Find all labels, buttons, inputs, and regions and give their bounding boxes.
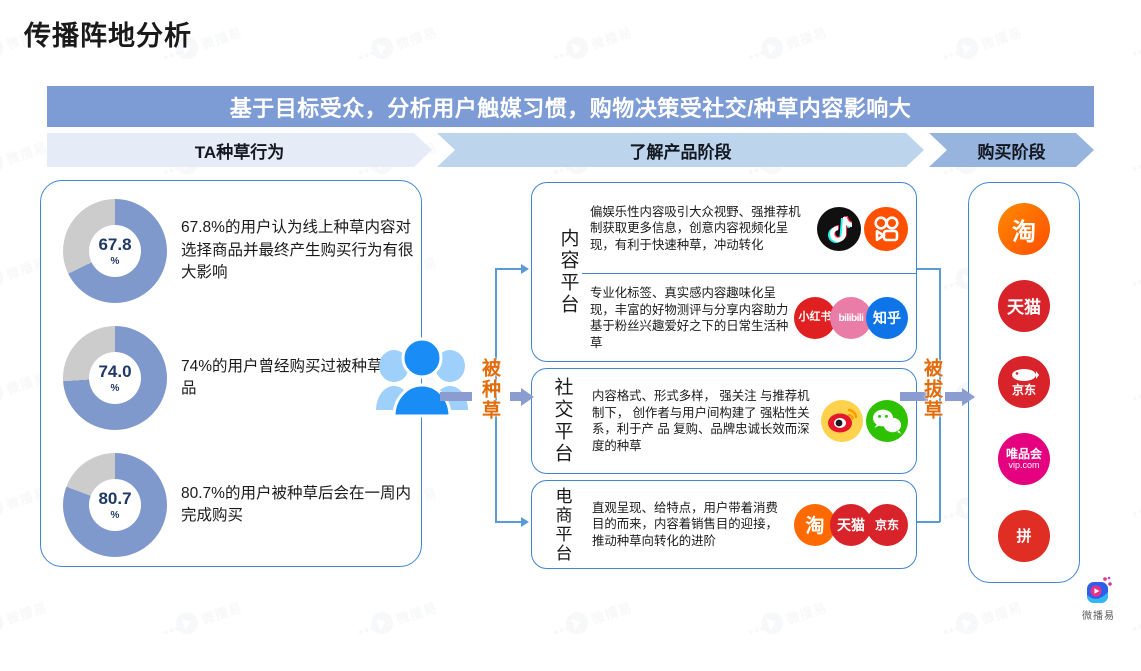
stage-bar: TA种草行为 了解产品阶段 购买阶段 [47,133,1094,167]
social-platform-row: 内容格式、形式多样， 强关注 与推荐机制下， 创作者与用户间构建了 强粘性关系，… [584,369,916,473]
social-platform-box[interactable]: 社交平台 内容格式、形式多样， 强关注 与推荐机制下， 创作者与用户间构建了 强… [531,368,917,474]
watermark: 微播易 [953,20,1024,62]
headline-text: 基于目标受众，分析用户触媒习惯，购物决策受社交/种草内容影响大 [230,91,912,123]
vip-logo[interactable]: 唯品会 vip.com [998,433,1050,485]
watermark: 微播易 [368,595,439,637]
platform-column: 内容平台 偏娱乐性内容吸引大众视野、强推荐机制获取更多信息，创意内容视频化呈现，… [531,182,915,567]
watermark: 微播易 [0,595,50,637]
left-flow-label: 被种草 [476,358,503,421]
ta-behavior-card: 67.8 % 67.8%的用户认为线上种草内容对选择商品并最终产生购买行为有很大… [40,180,422,567]
jd-logo-text: 京东 [1012,381,1036,398]
wechat-logo[interactable] [866,400,908,442]
row-description: 专业化标签、真实感内容趣味化呈现，丰富的好物测评与分享内容助力基于粉丝兴趣爱好之… [582,285,794,351]
page-title: 传播阵地分析 [24,14,192,53]
stat-description: 80.7%的用户被种草后会在一周内完成购买 [181,483,421,528]
donut-unit: % [111,383,120,394]
logo-group [817,207,916,251]
weiboyi-icon [1084,575,1114,605]
stage-purchase[interactable]: 购买阶段 [929,133,1094,167]
watermark: 微播易 [758,595,829,637]
douyin-logo[interactable] [817,207,861,251]
ecommerce-platform-label: 电商平台 [532,481,584,568]
content-platform-box[interactable]: 内容平台 偏娱乐性内容吸引大众视野、强推荐机制获取更多信息，创意内容视频化呈现，… [531,182,917,362]
stat-row: 67.8 % 67.8%的用户认为线上种草内容对选择商品并最终产生购买行为有很大… [63,199,421,303]
right-connector-top-branch [916,268,940,270]
taobao-logo[interactable]: 淘 [998,203,1050,255]
watermark: 微播易 [173,595,244,637]
donut-unit: % [111,256,120,267]
content-platform-row-video: 偏娱乐性内容吸引大众视野、强推荐机制获取更多信息，创意内容视频化呈现，有利于快速… [582,185,916,272]
logo-group: 小红书 bilibili 知乎 [794,297,916,339]
stat-description: 67.8%的用户认为线上种草内容对选择商品并最终产生购买行为有很大影响 [181,217,421,284]
ecommerce-platform-row: 直观呈现、给特点，用户带着消费目的而来，内容着销售目的迎接，推动种草向转化的进阶… [584,481,916,568]
left-arrowhead-ecommerce [521,517,529,527]
left-connector-bottom-branch [495,521,523,523]
donut-center: 67.8 % [89,225,141,277]
logo-group [821,400,916,442]
donut-chart-80: 80.7 % [63,453,167,557]
stage-2-label: 了解产品阶段 [630,138,732,163]
row-description: 偏娱乐性内容吸引大众视野、强推荐机制获取更多信息，创意内容视频化呈现，有利于快速… [582,204,817,254]
content-platform-row-community: 专业化标签、真实感内容趣味化呈现，丰富的好物测评与分享内容助力基于粉丝兴趣爱好之… [582,273,916,362]
watermark: 微播易 [563,20,634,62]
donut-chart-67: 67.8 % [63,199,167,303]
donut-value: 80.7 [98,490,131,507]
right-connector-bottom-branch [916,521,940,523]
left-flow-arrowhead [521,388,534,406]
donut-center: 80.7 % [89,479,141,531]
logo-group: 淘 天猫 京东 [794,504,916,546]
stage-product-awareness[interactable]: 了解产品阶段 [437,133,924,167]
brand-logo: 微播易 [1082,575,1115,622]
weibo-logo[interactable] [821,400,863,442]
vip-logo-text: 唯品会 [1006,448,1042,461]
left-connector-top-branch [495,268,523,270]
row-description: 内容格式、形式多样， 强关注 与推荐机制下， 创作者与用户间构建了 强粘性关系，… [584,388,821,454]
watermark: 微播易 [0,135,50,177]
kuaishou-logo[interactable] [864,207,908,251]
right-flow-arrowhead [962,388,975,406]
watermark: 微播易 [563,595,634,637]
row-description: 直观呈现、给特点，用户带着消费目的而来，内容着销售目的迎接，推动种草向转化的进阶 [584,500,794,550]
stat-row: 80.7 % 80.7%的用户被种草后会在一周内完成购买 [63,453,421,557]
headline-banner: 基于目标受众，分析用户触媒习惯，购物决策受社交/种草内容影响大 [47,86,1094,127]
left-flow-bar-a [440,392,472,401]
vip-logo-subtext: vip.com [1008,461,1039,471]
watermark: 微播易 [368,20,439,62]
donut-unit: % [111,510,120,521]
watermark: 微播易 [758,20,829,62]
pinduoduo-logo[interactable]: 拼 [998,510,1050,562]
right-flow-label: 被拔草 [918,358,945,421]
ecommerce-platform-box[interactable]: 电商平台 直观呈现、给特点，用户带着消费目的而来，内容着销售目的迎接，推动种草向… [531,480,917,569]
jd-logo[interactable]: 京东 [998,356,1050,408]
stage-3-label: 购买阶段 [978,138,1046,163]
zhihu-logo[interactable]: 知乎 [866,297,908,339]
purchase-platform-card: 淘 天猫 京东 唯品会 vip.com 拼 [968,182,1080,583]
left-arrowhead-content [521,264,529,274]
audience-people-icon [372,332,472,424]
pinduoduo-logo-text: 拼 [1016,525,1031,546]
tmall-logo[interactable]: 天猫 [998,280,1050,332]
stage-ta-planting[interactable]: TA种草行为 [47,133,432,167]
watermark: 微播易 [953,595,1024,637]
social-platform-label: 社交平台 [532,369,584,473]
right-flow-bar-b [945,392,963,401]
brand-name: 微播易 [1082,607,1115,622]
donut-value: 74.0 [98,363,131,380]
donut-center: 74.0 % [89,352,141,404]
donut-chart-74: 74.0 % [63,326,167,430]
stage-1-label: TA种草行为 [195,138,284,163]
stat-row: 74.0 % 74%的用户曾经购买过被种草的商品 [63,326,421,430]
slide-root: 微播易微播易微播易微播易微播易微播易微播易微播易微播易微播易微播易微播易微播易微… [0,0,1141,632]
jd-logo[interactable]: 京东 [866,504,908,546]
donut-value: 67.8 [98,236,131,253]
